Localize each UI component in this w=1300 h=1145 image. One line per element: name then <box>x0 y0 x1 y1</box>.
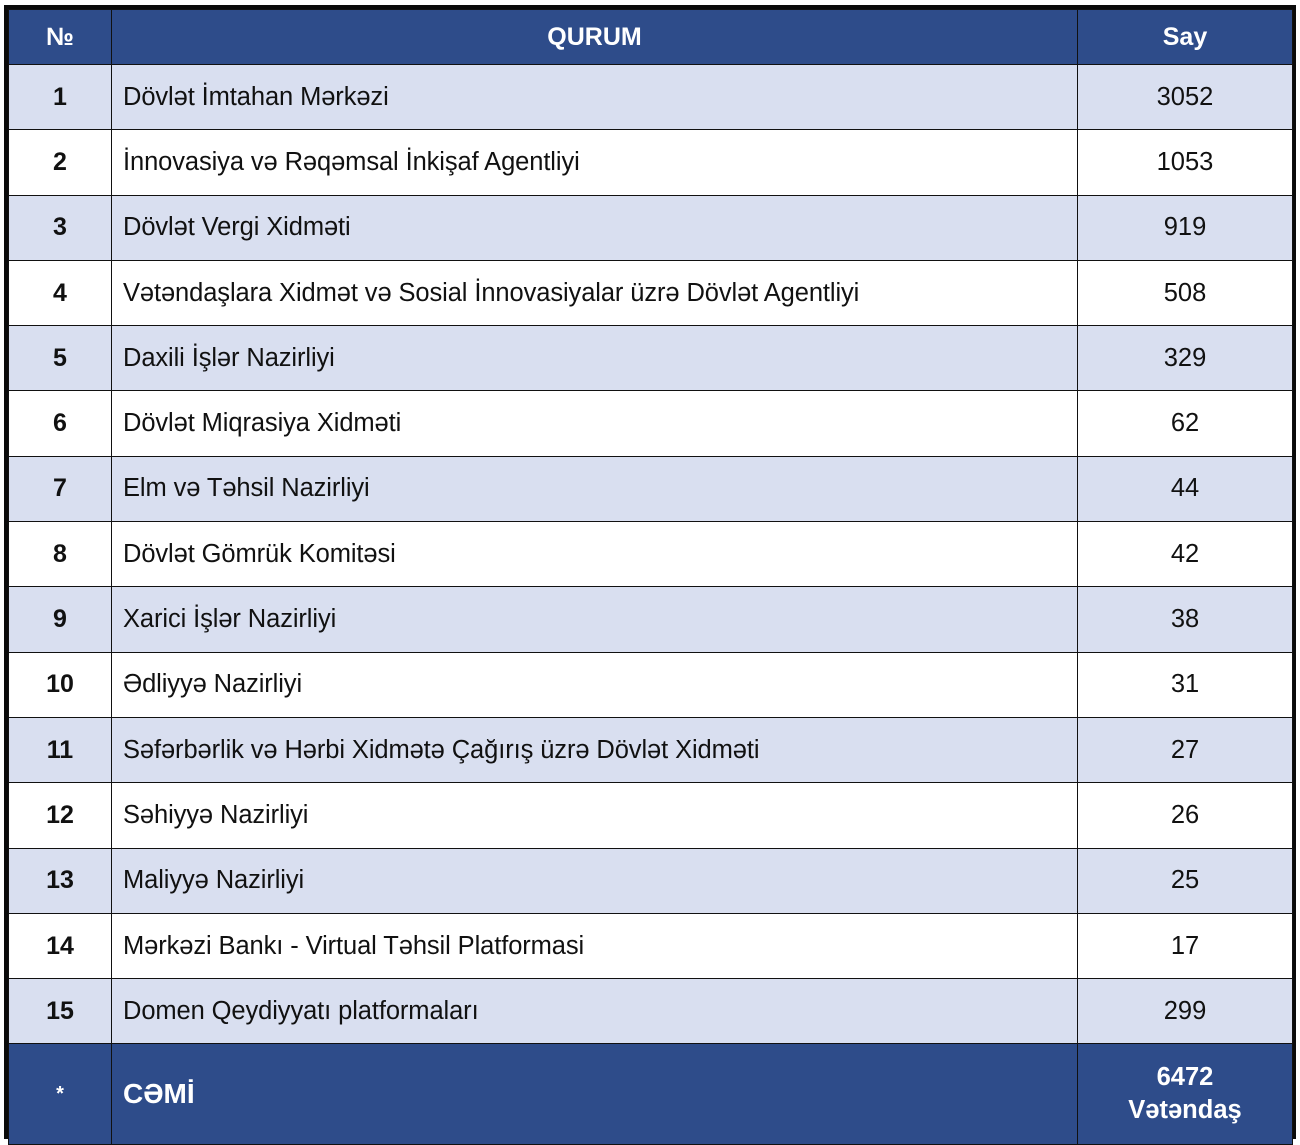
table-row: 9 Xarici İşlər Nazirliyi 38 <box>9 587 1293 652</box>
total-count-unit: Vətəndaş <box>1079 1094 1291 1128</box>
row-number: 3 <box>9 195 112 260</box>
row-organization: Dövlət Gömrük Komitəsi <box>112 522 1078 587</box>
row-number: 7 <box>9 456 112 521</box>
row-count: 31 <box>1078 652 1293 717</box>
table-row: 4 Vətəndaşlara Xidmət və Sosial İnnovasi… <box>9 260 1293 325</box>
row-number: 11 <box>9 717 112 782</box>
row-organization: Maliyyə Nazirliyi <box>112 848 1078 913</box>
row-number: 12 <box>9 783 112 848</box>
table-row: 5 Daxili İşlər Nazirliyi 329 <box>9 326 1293 391</box>
table-row: 13 Maliyyə Nazirliyi 25 <box>9 848 1293 913</box>
row-number: 13 <box>9 848 112 913</box>
table-body: 1 Dövlət İmtahan Mərkəzi 3052 2 İnnovasi… <box>9 65 1293 1145</box>
row-count: 27 <box>1078 717 1293 782</box>
column-header-number: № <box>9 10 112 65</box>
row-number: 4 <box>9 260 112 325</box>
total-row-marker: * <box>9 1044 112 1145</box>
table-header-row: № QURUM Say <box>9 10 1293 65</box>
table-row: 2 İnnovasiya və Rəqəmsal İnkişaf Agentli… <box>9 130 1293 195</box>
row-count: 25 <box>1078 848 1293 913</box>
total-row-label: CƏMİ <box>112 1044 1078 1145</box>
row-number: 9 <box>9 587 112 652</box>
row-organization: Daxili İşlər Nazirliyi <box>112 326 1078 391</box>
row-number: 14 <box>9 913 112 978</box>
row-organization: Elm və Təhsil Nazirliyi <box>112 456 1078 521</box>
table-row: 3 Dövlət Vergi Xidməti 919 <box>9 195 1293 260</box>
row-number: 8 <box>9 522 112 587</box>
row-count: 44 <box>1078 456 1293 521</box>
row-organization: Domen Qeydiyyatı platformaları <box>112 979 1078 1044</box>
row-organization: Dövlət Vergi Xidməti <box>112 195 1078 260</box>
row-organization: Ədliyyə Nazirliyi <box>112 652 1078 717</box>
row-count: 42 <box>1078 522 1293 587</box>
row-count: 919 <box>1078 195 1293 260</box>
data-table-container: № QURUM Say 1 Dövlət İmtahan Mərkəzi 305… <box>4 5 1296 1139</box>
row-organization: Mərkəzi Bankı - Virtual Təhsil Platforma… <box>112 913 1078 978</box>
row-count: 17 <box>1078 913 1293 978</box>
table-row: 12 Səhiyyə Nazirliyi 26 <box>9 783 1293 848</box>
column-header-count: Say <box>1078 10 1293 65</box>
table-total-row: * CƏMİ 6472 Vətəndaş <box>9 1044 1293 1145</box>
row-organization: Dövlət İmtahan Mərkəzi <box>112 65 1078 130</box>
row-count: 62 <box>1078 391 1293 456</box>
row-count: 299 <box>1078 979 1293 1044</box>
column-header-organization: QURUM <box>112 10 1078 65</box>
total-row-value: 6472 Vətəndaş <box>1078 1044 1293 1145</box>
row-number: 1 <box>9 65 112 130</box>
row-count: 26 <box>1078 783 1293 848</box>
table-row: 1 Dövlət İmtahan Mərkəzi 3052 <box>9 65 1293 130</box>
table-row: 6 Dövlət Miqrasiya Xidməti 62 <box>9 391 1293 456</box>
row-organization: Dövlət Miqrasiya Xidməti <box>112 391 1078 456</box>
table-row: 11 Səfərbərlik və Hərbi Xidmətə Çağırış … <box>9 717 1293 782</box>
row-count: 508 <box>1078 260 1293 325</box>
institution-request-table: № QURUM Say 1 Dövlət İmtahan Mərkəzi 305… <box>8 9 1293 1145</box>
row-number: 2 <box>9 130 112 195</box>
row-number: 5 <box>9 326 112 391</box>
row-number: 10 <box>9 652 112 717</box>
row-organization: Səfərbərlik və Hərbi Xidmətə Çağırış üzr… <box>112 717 1078 782</box>
row-count: 1053 <box>1078 130 1293 195</box>
row-count: 38 <box>1078 587 1293 652</box>
row-organization: Vətəndaşlara Xidmət və Sosial İnnovasiya… <box>112 260 1078 325</box>
table-header: № QURUM Say <box>9 10 1293 65</box>
row-organization: İnnovasiya və Rəqəmsal İnkişaf Agentliyi <box>112 130 1078 195</box>
row-organization: Səhiyyə Nazirliyi <box>112 783 1078 848</box>
table-row: 10 Ədliyyə Nazirliyi 31 <box>9 652 1293 717</box>
total-count: 6472 <box>1079 1061 1291 1095</box>
table-row: 15 Domen Qeydiyyatı platformaları 299 <box>9 979 1293 1044</box>
row-count: 3052 <box>1078 65 1293 130</box>
table-row: 7 Elm və Təhsil Nazirliyi 44 <box>9 456 1293 521</box>
table-row: 8 Dövlət Gömrük Komitəsi 42 <box>9 522 1293 587</box>
row-count: 329 <box>1078 326 1293 391</box>
table-row: 14 Mərkəzi Bankı - Virtual Təhsil Platfo… <box>9 913 1293 978</box>
row-organization: Xarici İşlər Nazirliyi <box>112 587 1078 652</box>
row-number: 15 <box>9 979 112 1044</box>
row-number: 6 <box>9 391 112 456</box>
